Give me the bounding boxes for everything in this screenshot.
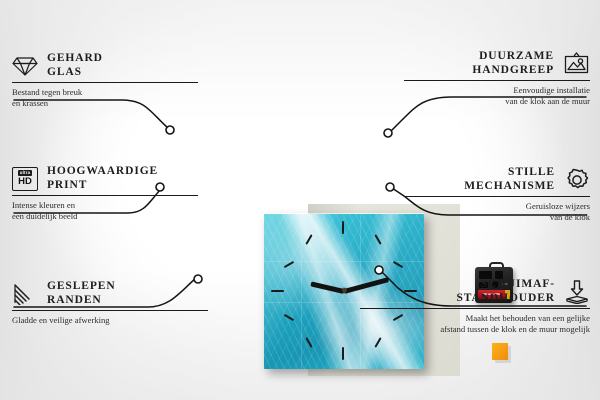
feature-description: Gladde en veilige afwerking bbox=[12, 315, 208, 326]
diamond-icon bbox=[12, 55, 38, 77]
feature-header: GESLEPEN RANDEN bbox=[12, 280, 208, 307]
feature-title: STILLE MECHANISME bbox=[464, 166, 555, 193]
gear-icon bbox=[564, 168, 590, 192]
feature-divider bbox=[12, 82, 198, 83]
feature-title: SCHUIMAF- STANDHOUDER bbox=[456, 278, 555, 305]
feature-hoogwaardige-print[interactable]: ultraHD HOOGWAARDIGE PRINT Intense kleur… bbox=[12, 165, 198, 221]
feature-title: GESLEPEN RANDEN bbox=[47, 280, 116, 307]
framed-picture-icon bbox=[563, 52, 590, 75]
feature-stille-mechanisme[interactable]: STILLE MECHANISME Geruisloze wijzers van… bbox=[404, 166, 590, 222]
feature-description: Intense kleuren en een duidelijk beeld bbox=[12, 200, 198, 221]
feature-header: GEHARD GLAS bbox=[12, 52, 198, 79]
ultra-hd-icon: ultraHD bbox=[12, 167, 38, 191]
beveled-edges-icon bbox=[12, 283, 38, 305]
feature-header: STILLE MECHANISME bbox=[404, 166, 590, 193]
down-arrow-stack-icon bbox=[564, 280, 590, 304]
feature-header: SCHUIMAF- STANDHOUDER bbox=[360, 278, 590, 305]
feature-header: ultraHD HOOGWAARDIGE PRINT bbox=[12, 165, 198, 192]
feature-divider bbox=[12, 310, 208, 311]
feature-title: HOOGWAARDIGE PRINT bbox=[47, 165, 158, 192]
feature-header: DUURZAME HANDGREEP bbox=[404, 50, 590, 77]
feature-gehard-glas[interactable]: GEHARD GLAS Bestand tegen breuk en krass… bbox=[12, 52, 198, 108]
feature-title: GEHARD GLAS bbox=[47, 52, 103, 79]
feature-divider bbox=[404, 196, 590, 197]
feature-divider bbox=[404, 80, 590, 81]
feature-geslepen-randen[interactable]: GESLEPEN RANDEN Gladde en veilige afwerk… bbox=[12, 280, 208, 326]
feature-duurzame-handgreep[interactable]: DUURZAME HANDGREEP Eenvoudige installati… bbox=[404, 50, 590, 106]
feature-description: Maakt het behouden van een gelijke afsta… bbox=[360, 313, 590, 334]
feature-description: Eenvoudige installatie van de klok aan d… bbox=[404, 85, 590, 106]
feature-description: Geruisloze wijzers van de klok bbox=[404, 201, 590, 222]
feature-schuimafstandhouder[interactable]: SCHUIMAF- STANDHOUDER Maakt het behouden… bbox=[360, 278, 590, 334]
feature-title: DUURZAME HANDGREEP bbox=[472, 50, 554, 77]
feature-divider bbox=[12, 195, 198, 196]
infographic-canvas: GEHARD GLAS Bestand tegen breuk en krass… bbox=[0, 0, 600, 400]
feature-divider bbox=[360, 308, 590, 309]
feature-description: Bestand tegen breuk en krassen bbox=[12, 87, 198, 108]
